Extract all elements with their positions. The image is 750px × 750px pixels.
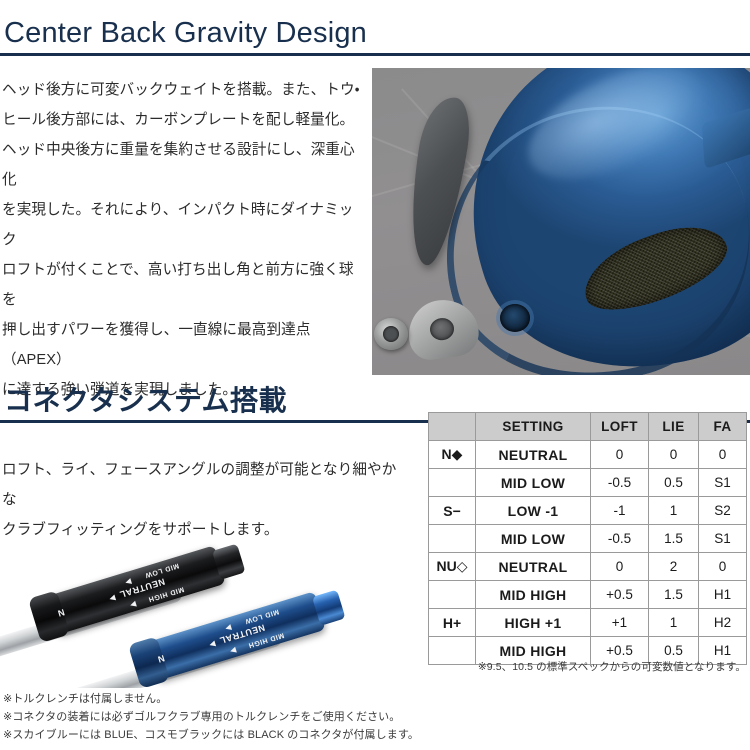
table-row: N◆NEUTRAL000 — [429, 441, 747, 469]
cell-key: NU◇ — [429, 553, 476, 581]
cell-fa: S1 — [699, 525, 747, 553]
connector-black: NEUTRAL MID HIGH MID LOW N — [46, 545, 226, 635]
cell-loft: -0.5 — [591, 469, 649, 497]
gravity-line-3: ヘッド中央後方に重量を集約させる設計にし、深重心化 — [2, 135, 364, 195]
cell-lie: 0 — [649, 441, 699, 469]
cell-key: N◆ — [429, 441, 476, 469]
cell-setting: MID HIGH — [476, 581, 591, 609]
triangle-icon — [109, 595, 116, 602]
mark-letter-n: N — [156, 653, 166, 665]
cell-loft: -1 — [591, 497, 649, 525]
table-row: MID LOW-0.50.5S1 — [429, 469, 747, 497]
triangle-icon — [229, 647, 236, 654]
gravity-line-5: ロフトが付くことで、高い打ち出し角と前方に強く球を — [2, 255, 364, 315]
cell-loft: 0 — [591, 553, 649, 581]
cell-key — [429, 525, 476, 553]
gravity-line-1: ヘッド後方に可変バックウェイトを搭載。また、トウ・ — [2, 75, 364, 105]
col-header-fa: FA — [699, 413, 747, 441]
table-row: NU◇NEUTRAL020 — [429, 553, 747, 581]
table-row: MID LOW-0.51.5S1 — [429, 525, 747, 553]
connector-title: コネクタシステム搭載 — [0, 386, 750, 415]
weight-screw — [374, 318, 408, 350]
connector-blue-markings: NEUTRAL MID HIGH MID LOW N — [146, 591, 326, 681]
cell-key — [429, 581, 476, 609]
cell-lie: 0.5 — [649, 469, 699, 497]
cell-setting: HIGH +1 — [476, 609, 591, 637]
cell-key: S− — [429, 497, 476, 525]
col-header-lie: LIE — [649, 413, 699, 441]
cell-lie: 1.5 — [649, 581, 699, 609]
cell-fa: H2 — [699, 609, 747, 637]
page-title: Center Back Gravity Design — [0, 18, 750, 48]
triangle-icon — [209, 641, 216, 648]
cell-lie: 1 — [649, 609, 699, 637]
cell-setting: NEUTRAL — [476, 441, 591, 469]
cell-loft: 0 — [591, 441, 649, 469]
cell-key — [429, 469, 476, 497]
cell-fa: 0 — [699, 441, 747, 469]
cell-setting: LOW -1 — [476, 497, 591, 525]
cell-fa: 0 — [699, 553, 747, 581]
heading-rule — [0, 53, 750, 56]
col-header-loft: LOFT — [591, 413, 649, 441]
connector-line-1: ロフト、ライ、フェースアングルの調整が可能となり細やかな — [2, 455, 402, 515]
mark-letter-n: N — [56, 607, 66, 619]
cell-fa: S2 — [699, 497, 747, 525]
table-footnote: ※9.5、10.5 の標準スペックからの可変数値となります。 — [428, 659, 746, 674]
table-row: MID HIGH+0.51.5H1 — [429, 581, 747, 609]
cell-setting: NEUTRAL — [476, 553, 591, 581]
gravity-line-6: 押し出すパワーを獲得し、一直線に最高到達点（APEX） — [2, 315, 364, 375]
footnote-2: ※コネクタの装着には必ずゴルフクラブ専用のトルクレンチをご使用ください。 — [3, 708, 419, 726]
triangle-icon — [125, 578, 132, 585]
connector-shafts-image: NEUTRAL MID HIGH MID LOW N NEUTRAL MID H… — [0, 508, 420, 688]
col-header-key — [429, 413, 476, 441]
cell-key: H+ — [429, 609, 476, 637]
cell-setting: MID LOW — [476, 469, 591, 497]
table-header-row: SETTING LOFT LIE FA — [429, 413, 747, 441]
cell-fa: H1 — [699, 581, 747, 609]
cell-lie: 2 — [649, 553, 699, 581]
footnote-3: ※スカイブルーには BLUE、コスモブラックには BLACK のコネクタが付属し… — [3, 726, 419, 744]
driver-head-image — [372, 68, 750, 375]
cell-lie: 1 — [649, 497, 699, 525]
connector-black-markings: NEUTRAL MID HIGH MID LOW N — [46, 545, 226, 635]
adjustment-spec-table: SETTING LOFT LIE FA N◆NEUTRAL000MID LOW-… — [428, 412, 747, 665]
triangle-icon — [129, 601, 136, 608]
cell-fa: S1 — [699, 469, 747, 497]
footnote-1: ※トルクレンチは付属しません。 — [3, 690, 419, 708]
gravity-line-4: を実現した。それにより、インパクト時にダイナミック — [2, 195, 364, 255]
gravity-description: ヘッド後方に可変バックウェイトを搭載。また、トウ・ ヒール後方部には、カーボンプ… — [2, 75, 364, 405]
footnotes: ※トルクレンチは付属しません。 ※コネクタの装着には必ずゴルフクラブ専用のトルク… — [3, 690, 419, 744]
col-header-setting: SETTING — [476, 413, 591, 441]
connector-blue: NEUTRAL MID HIGH MID LOW N — [146, 591, 326, 681]
table-row: H+HIGH +1+11H2 — [429, 609, 747, 637]
section-header-gravity: Center Back Gravity Design — [0, 18, 750, 56]
cell-loft: -0.5 — [591, 525, 649, 553]
cell-lie: 1.5 — [649, 525, 699, 553]
cell-setting: MID LOW — [476, 525, 591, 553]
gravity-line-2: ヒール後方部には、カーボンプレートを配し軽量化。 — [2, 105, 364, 135]
triangle-icon — [225, 624, 232, 631]
cell-loft: +1 — [591, 609, 649, 637]
table-row: S−LOW -1-11S2 — [429, 497, 747, 525]
cell-loft: +0.5 — [591, 581, 649, 609]
weight-port — [500, 304, 530, 332]
